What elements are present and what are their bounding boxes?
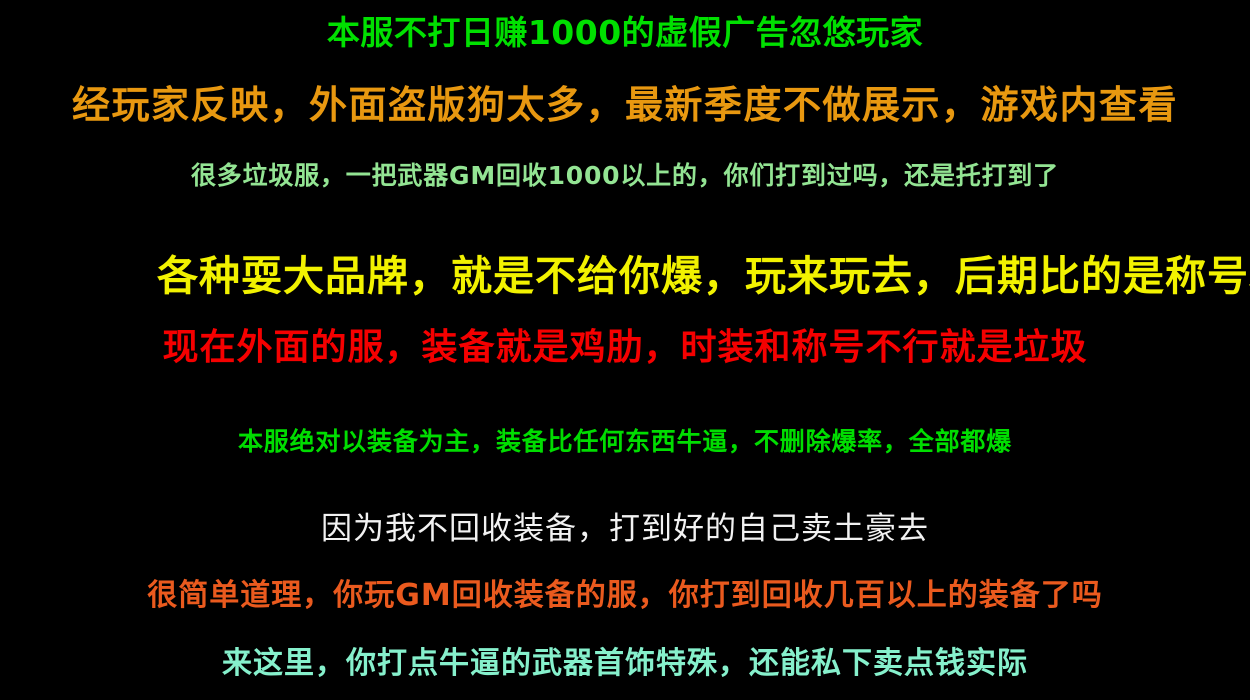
promo-line-complaint-big-brands: 各种耍大品牌，就是不给你爆，玩来玩去，后期比的是称号和时装 (157, 256, 1250, 297)
promo-line-policy-no-recycle: 因为我不回收装备，打到好的自己卖土豪去 (0, 514, 1250, 545)
promo-line-question-gm-recycle-hundreds: 很简单道理，你玩GM回收装备的服，你打到回收几百以上的装备了吗 (0, 581, 1250, 611)
promo-banner: 本服不打日赚1000的虚假广告忽悠玩家 经玩家反映，外面盗版狗太多，最新季度不做… (0, 0, 1250, 700)
promo-line-notice-pirate-servers: 经玩家反映，外面盗版狗太多，最新季度不做展示，游戏内查看 (0, 86, 1250, 124)
promo-line-headline-no-fake-ads: 本服不打日赚1000的虚假广告忽悠玩家 (0, 16, 1250, 49)
promo-line-promise-gear-focused: 本服绝对以装备为主，装备比任何东西牛逼，不删除爆率，全部都爆 (0, 429, 1250, 454)
promo-line-complaint-gear-useless: 现在外面的服，装备就是鸡肋，时装和称号不行就是垃圾 (0, 330, 1250, 366)
promo-line-question-gm-recycle-1000: 很多垃圾服，一把武器GM回收1000以上的，你们打到过吗，还是托打到了 (0, 163, 1250, 188)
promo-line-invite-earn-money: 来这里，你打点牛逼的武器首饰特殊，还能私下卖点钱实际 (0, 649, 1250, 679)
